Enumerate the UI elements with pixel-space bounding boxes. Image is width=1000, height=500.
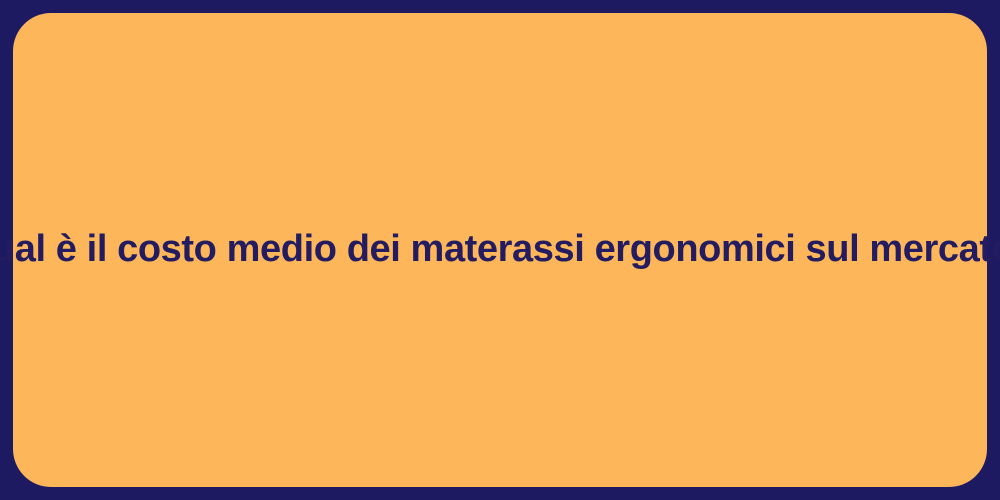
question-text: Qual è il costo medio dei materassi ergo… [0, 226, 1000, 274]
question-card-frame: Qual è il costo medio dei materassi ergo… [0, 0, 1000, 500]
question-card-panel: Qual è il costo medio dei materassi ergo… [13, 13, 987, 487]
